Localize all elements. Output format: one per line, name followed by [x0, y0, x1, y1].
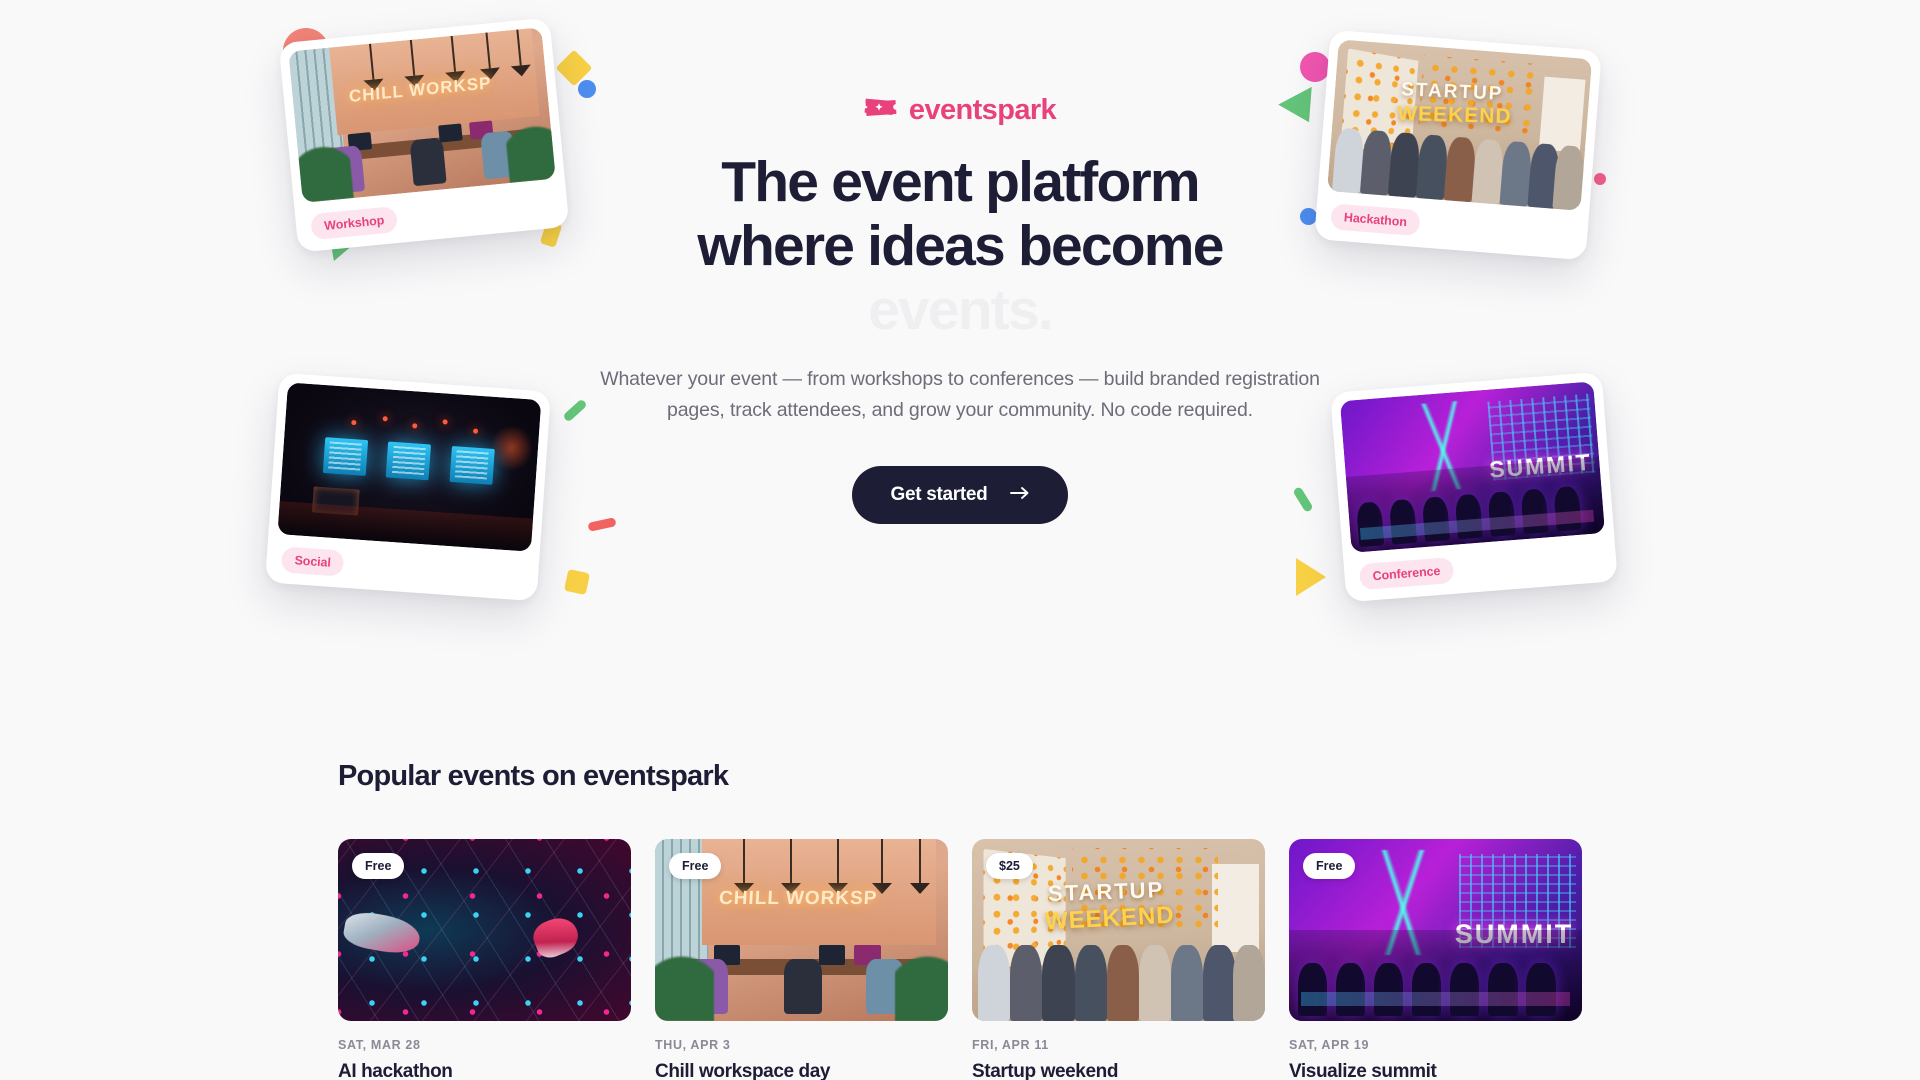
deco-circle-hotpink — [1300, 52, 1330, 82]
event-card[interactable]: Free SUMMIT SAT, APR 19 Visualize summit — [1289, 839, 1582, 1080]
event-title: Visualize summit — [1289, 1061, 1582, 1080]
event-thumbnail: Free SUMMIT — [1289, 839, 1582, 1021]
event-date: THU, APR 3 — [655, 1038, 948, 1052]
arrow-right-icon — [1010, 484, 1030, 506]
cta-wrapper: Get started — [580, 466, 1340, 524]
event-title: Startup weekend — [972, 1061, 1265, 1080]
card-image-conference: SUMMIT — [1340, 381, 1605, 552]
event-thumbnail: $25 STARTUP WEEKEND — [972, 839, 1265, 1021]
hero-subhead: Whatever your event — from workshops to … — [580, 364, 1340, 426]
card-chip-workshop: Workshop — [310, 206, 398, 240]
floating-card-conference[interactable]: SUMMIT Conference — [1330, 372, 1618, 603]
get-started-label: Get started — [890, 484, 987, 506]
card-chip-social: Social — [281, 546, 345, 576]
popular-events-title: Popular events on eventspark — [338, 760, 1582, 793]
headline-line-3: events. — [580, 279, 1340, 343]
card-image-workshop: CHILL WORKSP — [288, 27, 555, 203]
hero-section: CHILL WORKSP Workshop STARTUP — [0, 0, 1920, 700]
event-thumbnail: Free CHILL WORKSP — [655, 839, 948, 1021]
floating-card-workshop[interactable]: CHILL WORKSP Workshop — [279, 17, 570, 252]
popular-events-grid: Free SAT, MAR 28 AI hackathon Free — [338, 839, 1582, 1080]
headline-line-1: The event platform — [580, 151, 1340, 215]
event-card[interactable]: Free SAT, MAR 28 AI hackathon — [338, 839, 631, 1080]
event-price-badge: Free — [1303, 853, 1355, 879]
brand-logo[interactable]: eventspark — [580, 96, 1340, 125]
card-chip-hackathon: Hackathon — [1330, 203, 1421, 236]
card-chip-conference: Conference — [1359, 556, 1455, 589]
ticket-icon — [864, 96, 898, 125]
card-image-hackathon: STARTUP WEEKEND — [1327, 39, 1592, 210]
brand-name: eventspark — [909, 96, 1056, 125]
hero-content: eventspark The event platform where idea… — [580, 96, 1340, 524]
popular-events-section: Popular events on eventspark Free SAT, M… — [0, 760, 1920, 1080]
event-price-badge: $25 — [986, 853, 1033, 879]
event-date: FRI, APR 11 — [972, 1038, 1265, 1052]
workshop-neon-text: CHILL WORKSP — [719, 888, 879, 910]
hackathon-title-2: WEEKEND — [1397, 102, 1512, 129]
event-title: AI hackathon — [338, 1061, 631, 1080]
event-card[interactable]: $25 STARTUP WEEKEND — [972, 839, 1265, 1080]
deco-circle-pink-3 — [1594, 173, 1606, 185]
event-title: Chill workspace day — [655, 1061, 948, 1080]
card-image-social — [277, 382, 541, 551]
event-price-badge: Free — [352, 853, 404, 879]
deco-triangle-yellow — [1296, 558, 1326, 596]
event-thumbnail: Free — [338, 839, 631, 1021]
event-date: SAT, MAR 28 — [338, 1038, 631, 1052]
deco-square-yellow-2 — [564, 569, 590, 595]
event-date: SAT, APR 19 — [1289, 1038, 1582, 1052]
event-card[interactable]: Free CHILL WORKSP — [655, 839, 948, 1080]
event-price-badge: Free — [669, 853, 721, 879]
floating-card-hackathon[interactable]: STARTUP WEEKEND Hackathon — [1314, 30, 1602, 261]
get-started-button[interactable]: Get started — [852, 466, 1067, 524]
floating-card-social[interactable]: Social — [265, 373, 551, 601]
headline-line-2: where ideas become — [580, 215, 1340, 279]
page-title: The event platform where ideas become ev… — [580, 151, 1340, 342]
